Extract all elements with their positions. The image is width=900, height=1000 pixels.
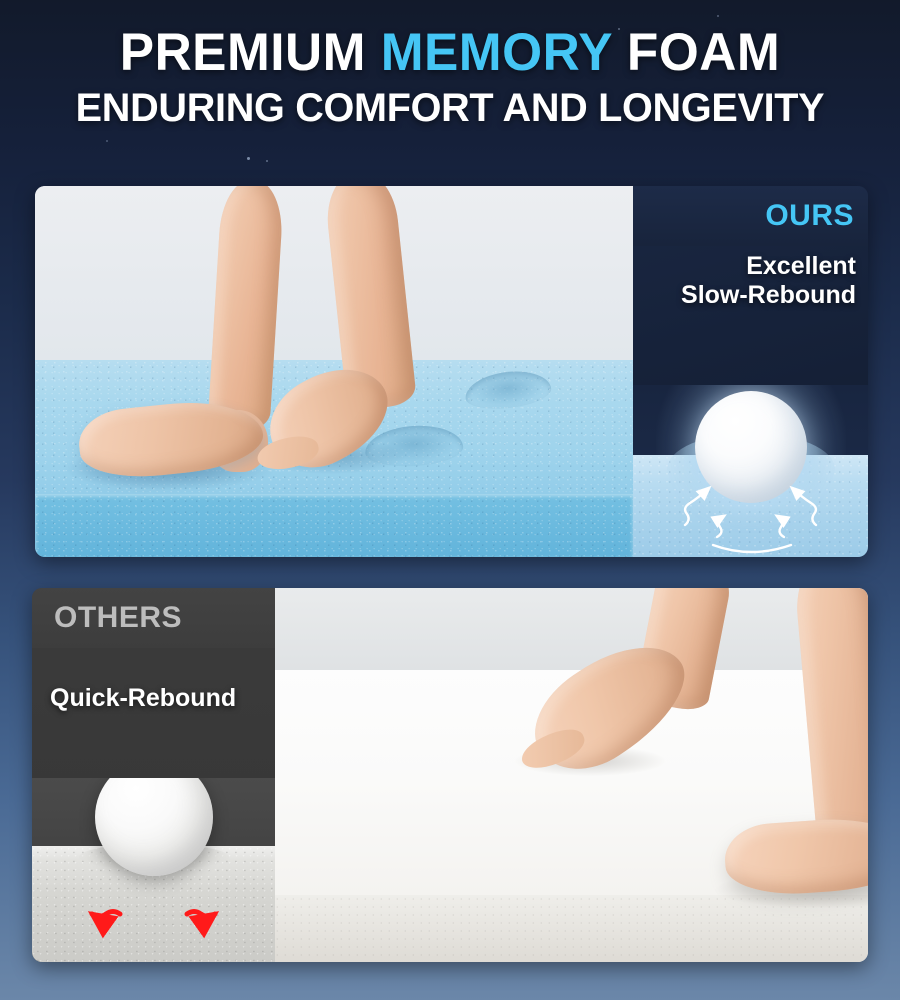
ours-benefit-line-1: Excellent [633,252,856,281]
others-panel: OTHERS Quick-Rebound [32,588,275,962]
white-foam-photo [275,588,868,962]
ours-header: OURS [633,186,868,246]
headline-block: PREMIUM MEMORY FOAM ENDURING COMFORT AND… [0,26,900,129]
ours-benefit-text: Excellent Slow-Rebound [633,252,868,310]
quick-rebound-arrows-icon [32,778,275,962]
ours-comparison-section: OURS Excellent Slow-Rebound [35,186,868,557]
slow-rebound-arrows-icon [633,385,868,557]
others-benefit-line-1: Quick-Rebound [50,684,236,712]
headline-accent-word: MEMORY [381,23,612,82]
ours-benefit-line-2: Slow-Rebound [633,281,856,310]
ours-rebound-diagram [633,385,868,557]
others-benefit-text: Quick-Rebound [32,684,275,713]
blue-foam-edge [35,494,633,557]
photo-backdrop [275,588,868,670]
background-speck [266,160,268,162]
headline-part-1: PREMIUM [120,23,381,82]
background-speck [106,140,108,142]
page-title: PREMIUM MEMORY FOAM [14,26,887,80]
background-speck [717,15,719,17]
ours-panel: OURS Excellent Slow-Rebound [633,186,868,557]
background-speck [247,157,250,160]
page-subtitle: ENDURING COMFORT AND LONGEVITY [5,87,896,129]
headline-part-2: FOAM [612,23,780,82]
others-comparison-section: OTHERS Quick-Rebound [32,588,868,962]
blue-foam-photo [35,186,633,557]
others-header: OTHERS [32,588,275,648]
others-label: OTHERS [54,601,182,635]
others-rebound-diagram [32,778,275,962]
ours-label: OURS [765,199,854,233]
